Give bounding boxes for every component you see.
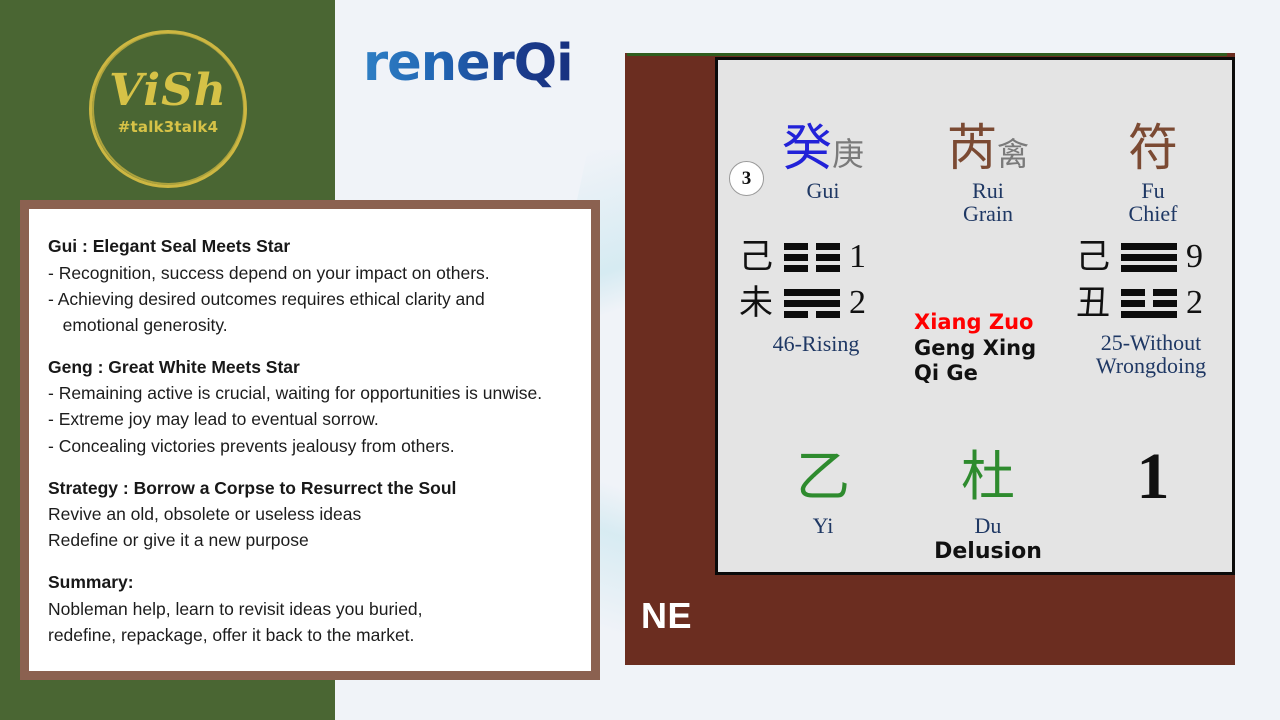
trigram-line-solid: [1121, 243, 1177, 250]
logo-wordmark: ViSh: [89, 69, 247, 113]
trigram-upper-left: [784, 243, 840, 272]
content-block-line: - Concealing victories prevents jealousy…: [48, 433, 571, 459]
door-glyph-du: 杜: [903, 450, 1073, 504]
content-block-line: - Achieving desired outcomes requires et…: [48, 286, 571, 312]
content-block: Geng : Great White Meets Star- Remaining…: [48, 354, 571, 459]
trigram-line-broken: [784, 254, 840, 261]
renerqi-wordmark: renerQi: [363, 38, 573, 89]
content-block-line: - Extreme joy may lead to eventual sorro…: [48, 406, 571, 432]
trigram-line-broken: [784, 243, 840, 250]
qimen-cell-top-left: 癸庚 Gui: [748, 123, 898, 202]
qimen-cell-bottom-center: 杜 Du Delusion: [903, 450, 1073, 564]
trigram-line-solid: [784, 289, 840, 296]
content-block-line: - Recognition, success depend on your im…: [48, 260, 571, 286]
star-glyph-rui: 芮: [947, 119, 997, 177]
trigram-lower-left: [784, 289, 840, 318]
branch-glyph-wei-left: 未: [737, 286, 775, 320]
qimen-center-structure: Xiang Zuo Geng Xing Qi Ge: [914, 310, 1084, 387]
branch-glyph-ji-left: 己: [737, 240, 775, 274]
qimen-chart: 3 癸庚 Gui 芮禽 Rui Grain 符 Fu Chief 己 1 未 2…: [715, 57, 1235, 575]
content-block-line: redefine, repackage, offer it back to th…: [48, 622, 571, 648]
logo-tagline: #talk3talk4: [89, 118, 247, 136]
vish-logo: ViSh #talk3talk4: [89, 30, 247, 188]
trigram-line-solid: [1121, 265, 1177, 272]
qimen-label-top-right-1: Fu: [1078, 179, 1228, 202]
hexagram-number-upper-left: 1: [849, 240, 866, 274]
structure-name-geng-xing: Geng Xing: [914, 336, 1084, 362]
qimen-cell-bottom-right: 1: [1078, 444, 1228, 510]
content-block-heading: Gui : Elegant Seal Meets Star: [48, 233, 571, 260]
qimen-label-top-center-1: Rui: [903, 179, 1073, 202]
trigram-line-solid: [1121, 254, 1177, 261]
branch-glyph-chou-right: 丑: [1074, 286, 1112, 320]
content-card: Gui : Elegant Seal Meets Star- Recogniti…: [20, 200, 600, 680]
structure-name-qi-ge: Qi Ge: [914, 361, 1084, 387]
content-card-body: Gui : Elegant Seal Meets Star- Recogniti…: [29, 209, 591, 648]
hexagram-number-lower-right: 2: [1186, 286, 1203, 320]
qimen-label-top-left: Gui: [748, 179, 898, 202]
palace-star-number: 1: [1078, 444, 1228, 510]
star-glyph-qin-small: 禽: [997, 135, 1029, 173]
trigram-line-solid: [784, 300, 840, 307]
trigram-upper-right: [1121, 243, 1177, 272]
qimen-cell-top-right: 符 Fu Chief: [1078, 123, 1228, 225]
qimen-label-bottom-center-2: Delusion: [903, 539, 1073, 564]
content-block-line: Nobleman help, learn to revisit ideas yo…: [48, 596, 571, 622]
stem-glyph-gui: 癸: [782, 119, 832, 177]
content-block-line: Revive an old, obsolete or useless ideas: [48, 501, 571, 527]
hexagram-caption-right-2: Wrongdoing: [1068, 354, 1234, 377]
qimen-hexagram-right: 己 9 丑 2 25-Without Wrongdoing: [1068, 240, 1238, 377]
content-block: Summary:Nobleman help, learn to revisit …: [48, 569, 571, 648]
content-block-heading: Geng : Great White Meets Star: [48, 354, 571, 381]
trigram-line-solid: [1121, 311, 1177, 318]
content-block: Gui : Elegant Seal Meets Star- Recogniti…: [48, 233, 571, 338]
content-block: Strategy : Borrow a Corpse to Resurrect …: [48, 475, 571, 554]
qimen-hexagram-left: 己 1 未 2 46-Rising: [727, 240, 917, 355]
stem-glyph-yi: 乙: [748, 450, 898, 504]
trigram-line-broken: [784, 265, 840, 272]
panel-top-green-strip: [627, 53, 1227, 56]
qimen-cell-bottom-left: 乙 Yi: [748, 450, 898, 537]
qimen-label-bottom-center-1: Du: [903, 514, 1073, 537]
direction-label: NE: [641, 598, 692, 634]
deity-glyph-fu: 符: [1128, 119, 1178, 177]
stem-glyph-geng-small: 庚: [832, 135, 864, 173]
structure-name-xiang-zuo: Xiang Zuo: [914, 310, 1084, 336]
qimen-label-top-center-2: Grain: [903, 202, 1073, 225]
qimen-label-bottom-left: Yi: [748, 514, 898, 537]
hexagram-number-lower-left: 2: [849, 286, 866, 320]
trigram-lower-right: [1121, 289, 1177, 318]
content-block-line: - Remaining active is crucial, waiting f…: [48, 380, 571, 406]
trigram-line-broken: [1121, 289, 1177, 296]
content-block-heading: Strategy : Borrow a Corpse to Resurrect …: [48, 475, 571, 502]
content-block-line: emotional generosity.: [48, 312, 571, 338]
branch-glyph-ji-right: 己: [1074, 240, 1112, 274]
qimen-label-top-right-2: Chief: [1078, 202, 1228, 225]
qimen-cell-top-center: 芮禽 Rui Grain: [903, 123, 1073, 225]
hexagram-number-upper-right: 9: [1186, 240, 1203, 274]
content-block-line: Redefine or give it a new purpose: [48, 527, 571, 553]
trigram-line-broken: [1121, 300, 1177, 307]
content-block-heading: Summary:: [48, 569, 571, 596]
hexagram-caption-right-1: 25-Without: [1068, 331, 1234, 354]
trigram-line-broken: [784, 311, 840, 318]
hexagram-caption-left: 46-Rising: [727, 332, 905, 355]
